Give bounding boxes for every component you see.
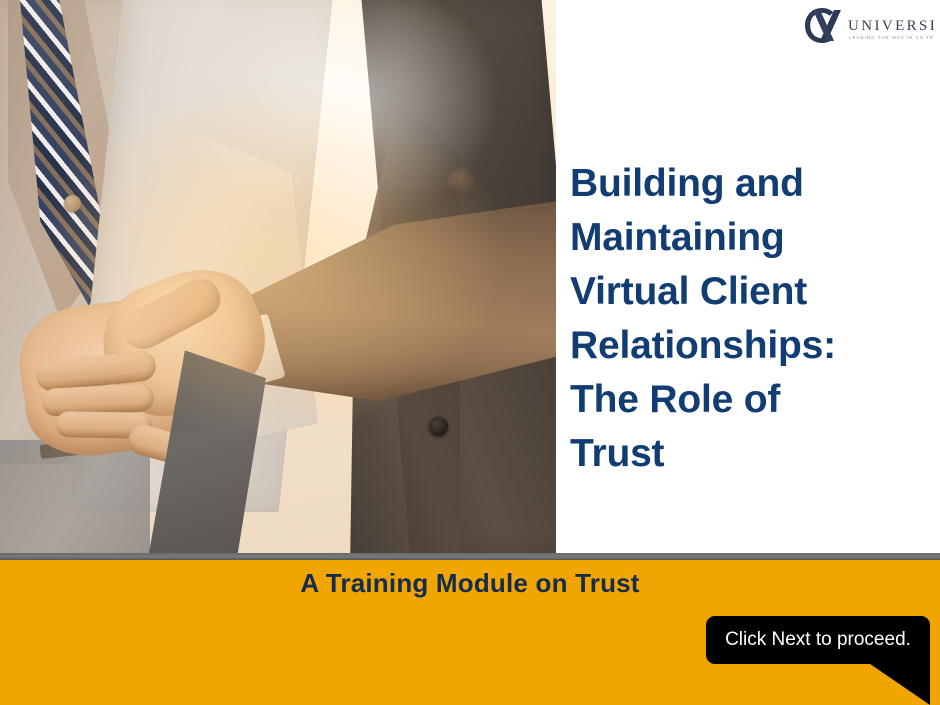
logo-university-text: UNIVERSITY: [848, 18, 934, 34]
content-panel: UNIVERSITY LEADING THE WAY IN CX TRAININ…: [556, 0, 940, 557]
logo-tagline-text: LEADING THE WAY IN CX TRAINING: [849, 35, 934, 40]
callout-text: Click Next to proceed.: [725, 629, 911, 651]
title-slide: UNIVERSITY LEADING THE WAY IN CX TRAININ…: [0, 0, 940, 705]
title-line-1: Building and: [570, 157, 930, 211]
left-jacket-button: [64, 195, 81, 212]
cx-monogram-icon: [805, 8, 841, 43]
title-line-4: Relationships:: [570, 319, 930, 373]
title-line-6: Trust: [570, 427, 930, 481]
divider-strip: [0, 553, 940, 560]
page-title: Building and Maintaining Virtual Client …: [570, 157, 930, 481]
right-jacket-button-lower: [429, 417, 448, 436]
subtitle-text: A Training Module on Trust: [0, 568, 940, 599]
title-line-3: Virtual Client: [570, 265, 930, 319]
university-logo: UNIVERSITY LEADING THE WAY IN CX TRAININ…: [800, 4, 934, 50]
title-line-2: Maintaining: [570, 211, 930, 265]
title-line-5: The Role of: [570, 373, 930, 427]
hero-photo: [0, 0, 556, 557]
trousers: [0, 440, 150, 557]
right-jacket-button-upper: [448, 168, 478, 198]
